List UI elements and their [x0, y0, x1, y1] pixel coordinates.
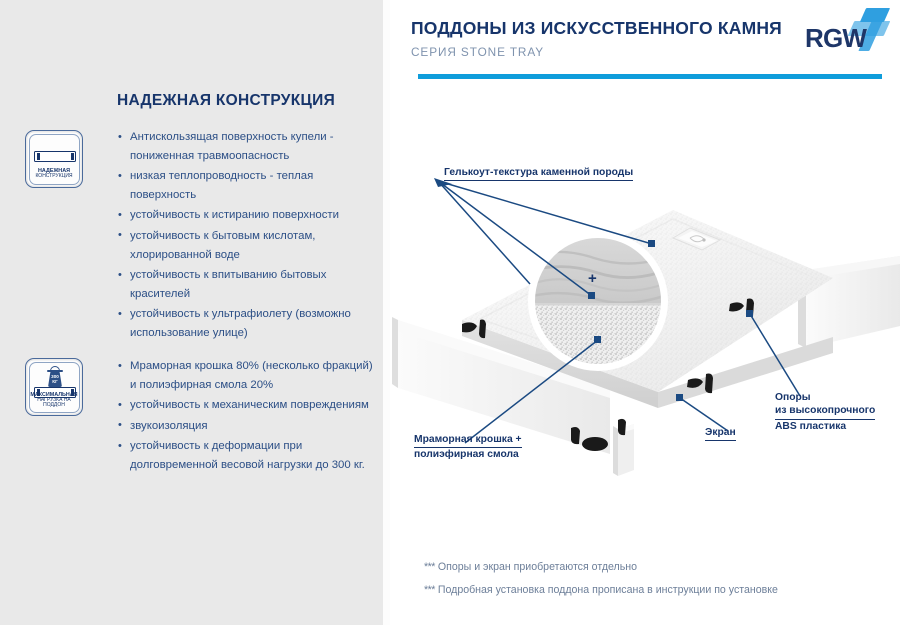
feature-list-load: Мраморная крошка 80% (несколько фракций)… [118, 357, 380, 477]
badge-caption: НАДЕЖНАЯ КОНСТРУКЦИЯ [26, 168, 82, 180]
left-panel-edge [383, 0, 390, 625]
magnifier-plus-icon: + [588, 270, 597, 287]
header-divider [418, 74, 882, 79]
badge-caption-line2: КОНСТРУКЦИЯ [26, 174, 82, 180]
callout-screen: Экран [705, 426, 736, 441]
badge-maximum-load: 300 КГ МАКСИМАЛЬНАЯ НАГРУЗКА НА ПОДДОН [25, 358, 83, 416]
callout-legs-line2: из высокопрочного [775, 404, 875, 419]
list-item: устойчивость к впитыванию бытовых красит… [118, 266, 380, 303]
weight-icon: 300 КГ [47, 366, 63, 387]
callout-marble: Мраморная крошка + полиэфирная смола [414, 433, 522, 462]
list-item: Мраморная крошка 80% (несколько фракций)… [118, 357, 380, 394]
list-item: устойчивость к истиранию поверхности [118, 206, 380, 225]
logo-wordmark: RGW [805, 23, 866, 54]
footnote-one: ***Опоры и экран приобретаются отдельно [424, 561, 637, 573]
weight-unit: КГ [52, 379, 57, 384]
callout-gelcoat: Гелькоут-текстура каменной породы [444, 166, 633, 181]
page-subtitle: СЕРИЯ STONE TRAY [411, 45, 544, 59]
callout-legs-line3: ABS пластика [775, 421, 846, 432]
tray-icon [34, 151, 76, 162]
list-item: устойчивость к деформации при долговреме… [118, 437, 380, 474]
page-title: ПОДДОНЫ ИЗ ИСКУССТВЕННОГО КАМНЯ [411, 18, 782, 39]
feature-list-construction: Антискользящая поверхность купели - пони… [118, 128, 380, 345]
list-item: Антискользящая поверхность купели - пони… [118, 128, 380, 165]
badge-caption: МАКСИМАЛЬНАЯ НАГРУЗКА НА ПОДДОН [26, 392, 82, 409]
callout-marble-line2: полиэфирная смола [414, 449, 519, 460]
brochure-page: НАДЕЖНАЯ КОНСТРУКЦИЯ НАДЕЖНАЯ КОНСТРУКЦИ… [0, 0, 900, 625]
badge-reliable-construction: НАДЕЖНАЯ КОНСТРУКЦИЯ [25, 130, 83, 188]
callout-gelcoat-text: Гелькоут-текстура каменной породы [444, 166, 633, 181]
product-illustration [390, 88, 900, 548]
badge-caption-line2: НАГРУЗКА НА ПОДДОН [26, 398, 82, 409]
callout-legs-line1: Опоры [775, 392, 811, 403]
footnote-stars: *** [424, 561, 435, 573]
sidebar-heading: НАДЕЖНАЯ КОНСТРУКЦИЯ [117, 92, 335, 110]
rgw-logo: RGW [805, 6, 895, 58]
footnote-one-text: Опоры и экран приобретаются отдельно [438, 561, 637, 573]
list-item: низкая теплопроводность - теплая поверхн… [118, 167, 380, 204]
footnote-stars: *** [424, 584, 435, 596]
callout-marble-line1: Мраморная крошка + [414, 433, 522, 448]
weight-label: 300 КГ [47, 375, 63, 385]
footnote-two: ***Подробная установка поддона прописана… [424, 584, 778, 596]
list-item: звукоизоляция [118, 417, 380, 436]
callout-legs: Опоры из высокопрочного ABS пластика [775, 391, 875, 433]
list-item: устойчивость к бытовым кислотам, хлориро… [118, 227, 380, 264]
list-item: устойчивость к ультрафиолету (возможно и… [118, 305, 380, 342]
callout-screen-text: Экран [705, 426, 736, 441]
logo-slash-dark-icon [860, 8, 890, 22]
footnote-two-text: Подробная установка поддона прописана в … [438, 584, 778, 596]
list-item: устойчивость к механическим повреждениям [118, 396, 380, 415]
